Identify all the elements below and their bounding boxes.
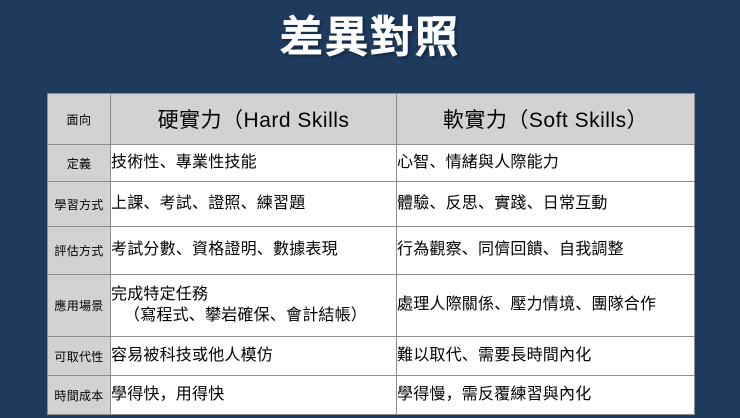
cell-application-scenario-soft: 處理人際關係、壓力情境、團隊合作	[397, 275, 695, 337]
comparison-table-container: 面向 硬實力（Hard Skills 軟實力（Soft Skills） 定義 技…	[47, 93, 694, 406]
table-row: 定義 技術性、專業性技能 心智、情緒與人際能力	[48, 145, 695, 182]
table-row: 可取代性 容易被科技或他人模仿 難以取代、需要長時間內化	[48, 337, 695, 376]
cell-time-cost-soft: 學得慢，需反覆練習與內化	[397, 376, 695, 415]
table-header-row: 面向 硬實力（Hard Skills 軟實力（Soft Skills）	[48, 94, 695, 145]
slide-root: 差異對照 面向 硬實力（Hard Skills 軟實力（Soft Skills）…	[0, 0, 740, 418]
table-row: 應用場景 完成特定任務 （寫程式、攀岩確保、會計結帳） 處理人際關係、壓力情境、…	[48, 275, 695, 337]
cell-application-scenario-hard: 完成特定任務 （寫程式、攀岩確保、會計結帳）	[111, 275, 397, 337]
cell-assessment-method-soft: 行為觀察、同儕回饋、自我調整	[397, 227, 695, 275]
column-header-hard-skills: 硬實力（Hard Skills	[111, 94, 397, 145]
table-row: 時間成本 學得快，用得快 學得慢，需反覆練習與內化	[48, 376, 695, 415]
row-label-replaceability: 可取代性	[48, 337, 111, 376]
cell-learning-method-hard: 上課、考試、證照、練習題	[111, 182, 397, 227]
row-label-learning-method: 學習方式	[48, 182, 111, 227]
table-row: 評估方式 考試分數、資格證明、數據表現 行為觀察、同儕回饋、自我調整	[48, 227, 695, 275]
cell-definition-soft: 心智、情緒與人際能力	[397, 145, 695, 182]
table-row: 學習方式 上課、考試、證照、練習題 體驗、反思、實踐、日常互動	[48, 182, 695, 227]
column-header-aspect: 面向	[48, 94, 111, 145]
cell-replaceability-hard: 容易被科技或他人模仿	[111, 337, 397, 376]
cell-definition-hard: 技術性、專業性技能	[111, 145, 397, 182]
cell-time-cost-hard: 學得快，用得快	[111, 376, 397, 415]
cell-replaceability-soft: 難以取代、需要長時間內化	[397, 337, 695, 376]
cell-text-line-2: （寫程式、攀岩確保、會計結帳）	[111, 306, 396, 326]
row-label-assessment-method: 評估方式	[48, 227, 111, 275]
page-title: 差異對照	[0, 14, 740, 63]
column-header-soft-skills: 軟實力（Soft Skills）	[397, 94, 695, 145]
comparison-table: 面向 硬實力（Hard Skills 軟實力（Soft Skills） 定義 技…	[47, 93, 695, 415]
row-label-time-cost: 時間成本	[48, 376, 111, 415]
row-label-application-scenario: 應用場景	[48, 275, 111, 337]
cell-assessment-method-hard: 考試分數、資格證明、數據表現	[111, 227, 397, 275]
cell-learning-method-soft: 體驗、反思、實踐、日常互動	[397, 182, 695, 227]
cell-text-line-1: 完成特定任務	[111, 286, 208, 303]
row-label-definition: 定義	[48, 145, 111, 182]
